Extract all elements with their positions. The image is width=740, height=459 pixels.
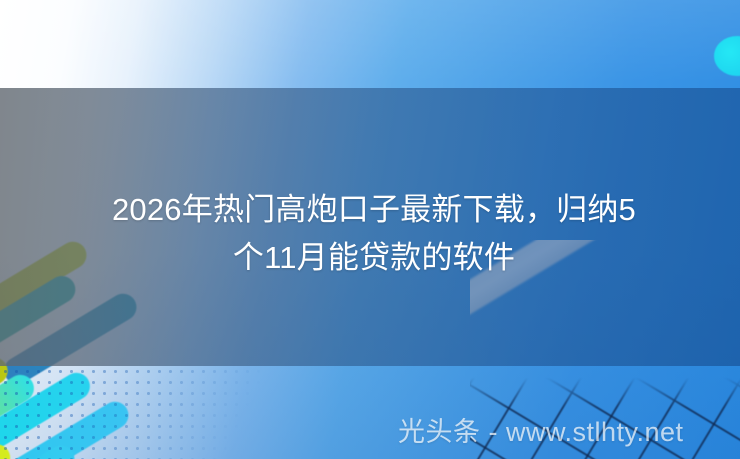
poster-title: 2026年热门高炮口子最新下载，归纳5 个11月能贷款的软件 [36, 186, 712, 282]
poster-image: 2026年热门高炮口子最新下载，归纳5 个11月能贷款的软件 光头条 - www… [0, 0, 740, 459]
halftone-dots-graphic [0, 366, 300, 459]
site-watermark: 光头条 - www.stlhty.net [398, 410, 684, 449]
